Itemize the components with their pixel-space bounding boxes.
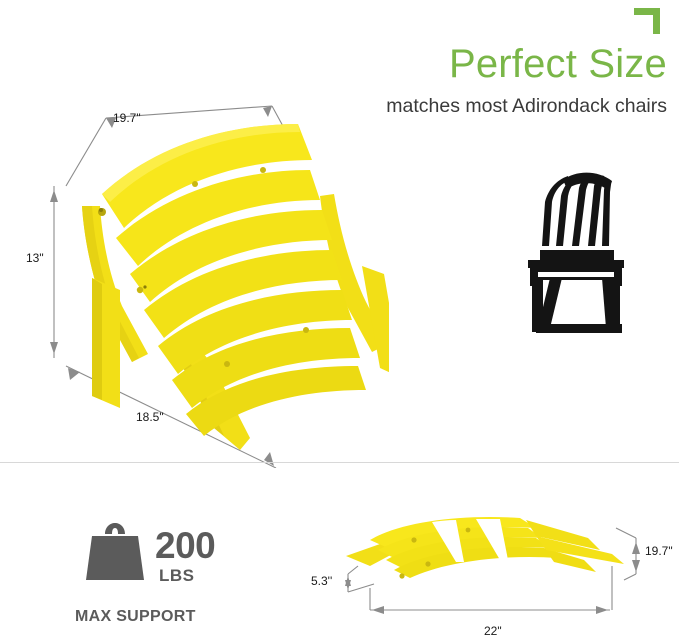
dimension-label-width: 19.7": [113, 111, 141, 125]
folded-dimension-height: 5.3'': [311, 574, 332, 588]
max-support-unit: LBS: [159, 566, 195, 586]
dimension-label-height: 13": [26, 251, 44, 265]
ottoman-main-illustration: [44, 78, 389, 468]
dimension-label-depth: 18.5": [136, 410, 164, 424]
max-support-caption: MAX SUPPORT: [75, 608, 196, 626]
folded-dimension-length: 22": [484, 624, 502, 638]
max-support-value: 200: [155, 525, 215, 567]
max-support-badge: 200 LBS MAX SUPPORT: [60, 508, 260, 636]
corner-bracket-icon: [634, 8, 660, 34]
ottoman-folded-illustration: [340, 488, 640, 618]
section-divider: [0, 462, 679, 463]
product-infographic: Perfect Size matches most Adirondack cha…: [0, 0, 679, 641]
weight-icon: [80, 518, 150, 588]
folded-dimension-width: 19.7": [645, 544, 673, 558]
corner-bracket-horizontal: [634, 8, 660, 15]
adirondack-chair-icon: [506, 168, 636, 340]
